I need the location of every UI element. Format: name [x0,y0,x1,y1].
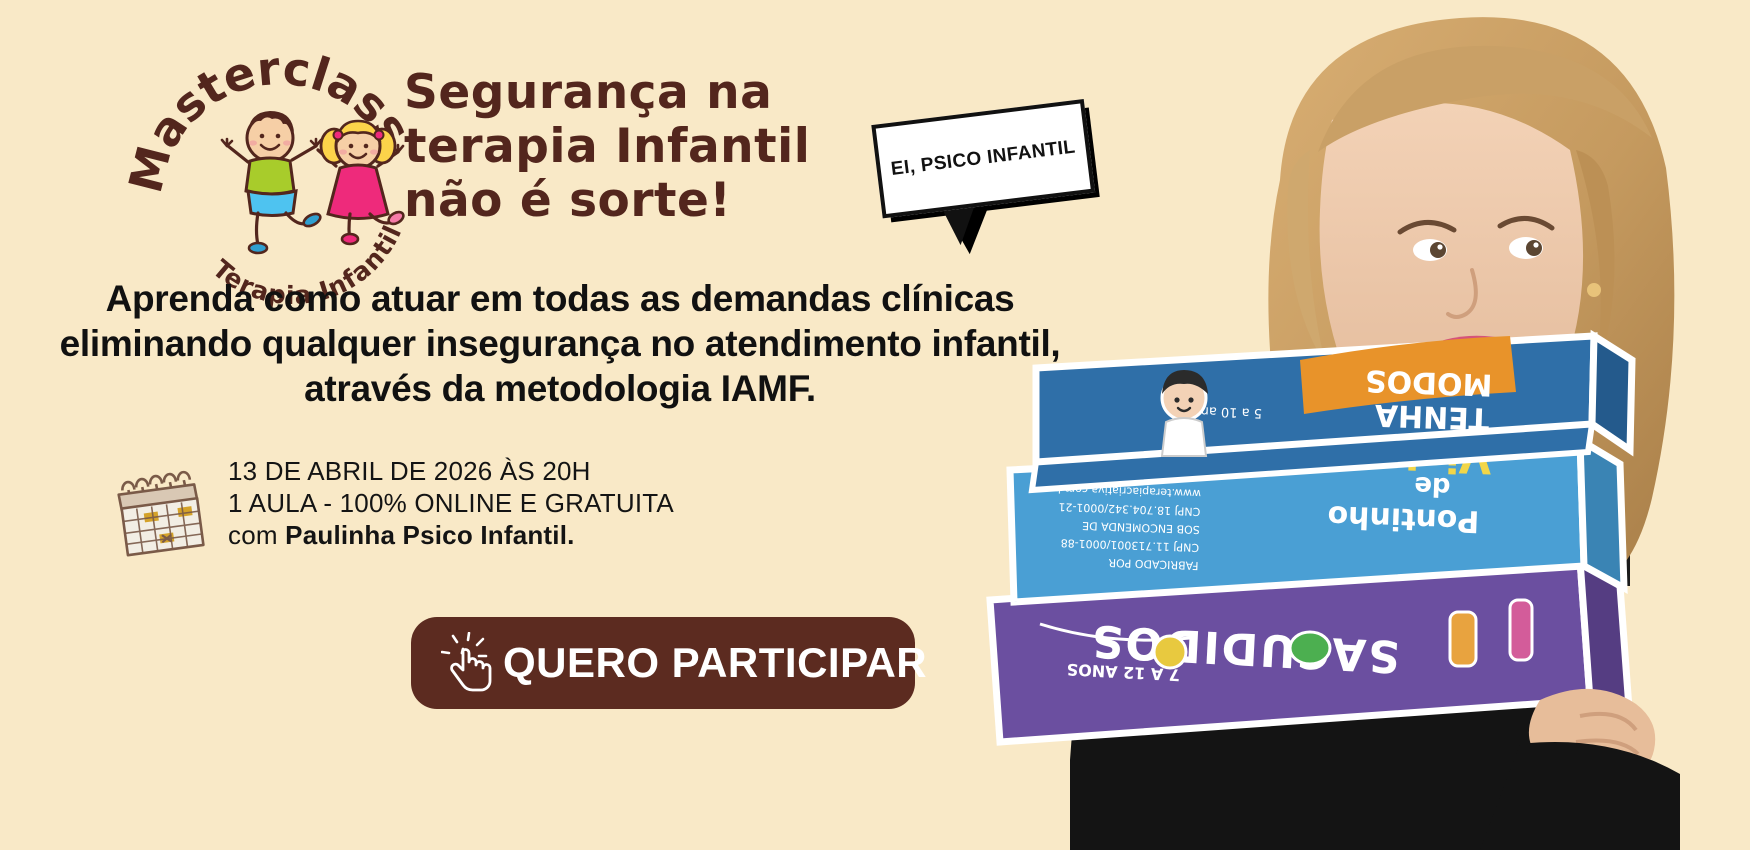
event-host-name: Paulinha Psico Infantil. [285,520,574,550]
landing-page-banner: Masterclass Terapia Infantil [0,0,1750,850]
event-format: 1 AULA - 100% ONLINE E GRATUITA [228,487,728,519]
headline-line-2: terapia Infantil [404,120,824,174]
headline-line-1: Segurança na [404,66,824,120]
event-date: 13 DE ABRIL DE 2026 ÀS 20H [228,455,728,487]
svg-text:MODOS: MODOS [1364,362,1493,401]
event-info-text: 13 DE ABRIL DE 2026 ÀS 20H 1 AULA - 100%… [228,455,728,551]
headline: Segurança na terapia Infantil não é sort… [404,66,824,228]
woman-holding-stacked-game-boxes: SACUDIDOS 7 A 12 ANOS [980,0,1750,850]
event-host: com Paulinha Psico Infantil. [228,519,728,551]
body-copy-line-1: Aprenda como atuar em todas as demandas … [0,276,1120,321]
click-hand-icon [441,632,503,694]
headline-line-3: não é sorte! [404,174,824,228]
event-info-block: 13 DE ABRIL DE 2026 ÀS 20H 1 AULA - 100%… [108,455,728,565]
svg-text:Pontinho: Pontinho [1327,498,1480,538]
quero-participar-button[interactable]: QUERO PARTICIPAR [411,617,915,709]
logo-boy-figure [222,111,322,253]
calendar-icon [108,462,208,557]
svg-text:TENHA: TENHA [1373,397,1489,436]
cta-label: QUERO PARTICIPAR [503,639,927,687]
body-copy-line-3: através da metodologia IAMF. [0,366,1120,411]
masterclass-logo: Masterclass Terapia Infantil [140,42,430,292]
body-copy-line-2: eliminando qualquer insegurança no atend… [0,321,1120,366]
body-copy: Aprenda como atuar em todas as demandas … [0,276,1120,411]
event-host-prefix: com [228,520,285,550]
